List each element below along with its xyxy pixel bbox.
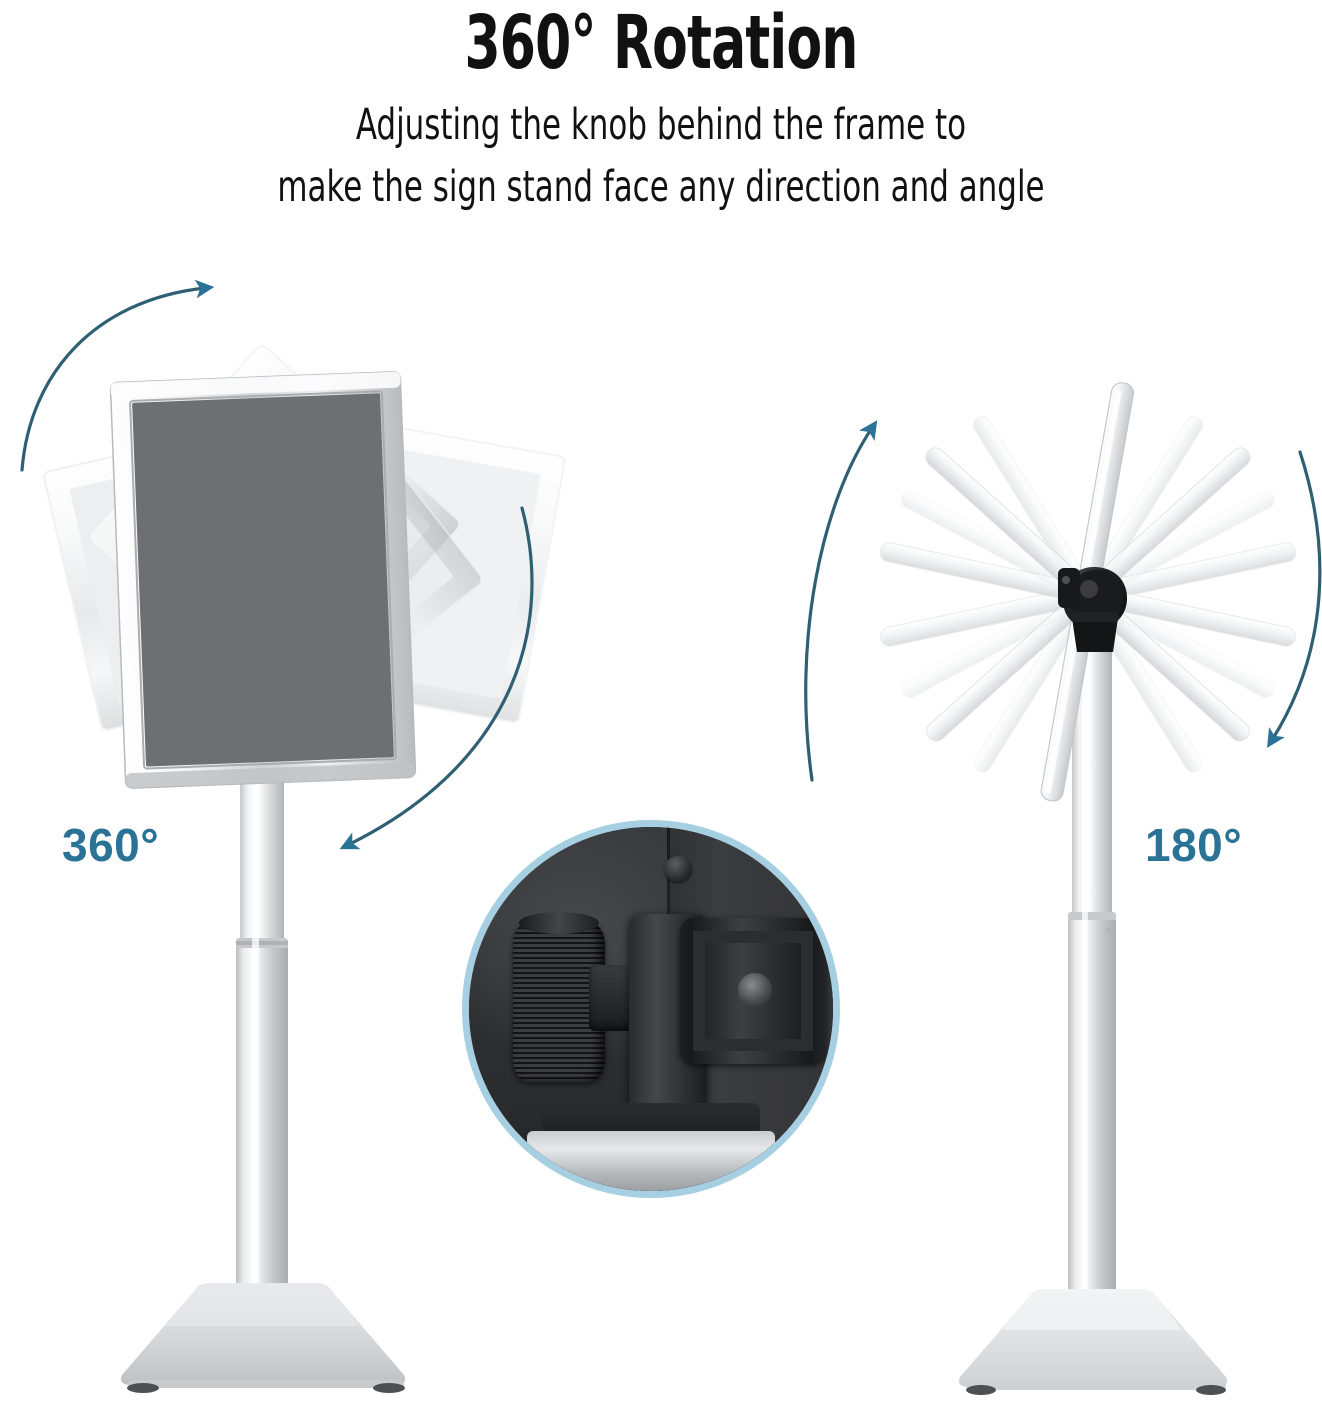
left-panel-360-rotation — [0, 250, 640, 1408]
subtitle-line-1: Adjusting the knob behind the frame to — [132, 95, 1190, 156]
subtitle: Adjusting the knob behind the frame to m… — [132, 95, 1190, 217]
header: 360° Rotation Adjusting the knob behind … — [0, 0, 1322, 218]
page-title: 360° Rotation — [145, 6, 1176, 81]
right-panel-180-tilt — [790, 370, 1322, 1408]
infographic-canvas: 360° Rotation Adjusting the knob behind … — [0, 0, 1322, 1408]
subtitle-line-2: make the sign stand face any direction a… — [132, 157, 1190, 218]
screw-hole-icon — [664, 856, 692, 882]
clamp-bolt — [738, 973, 772, 1007]
